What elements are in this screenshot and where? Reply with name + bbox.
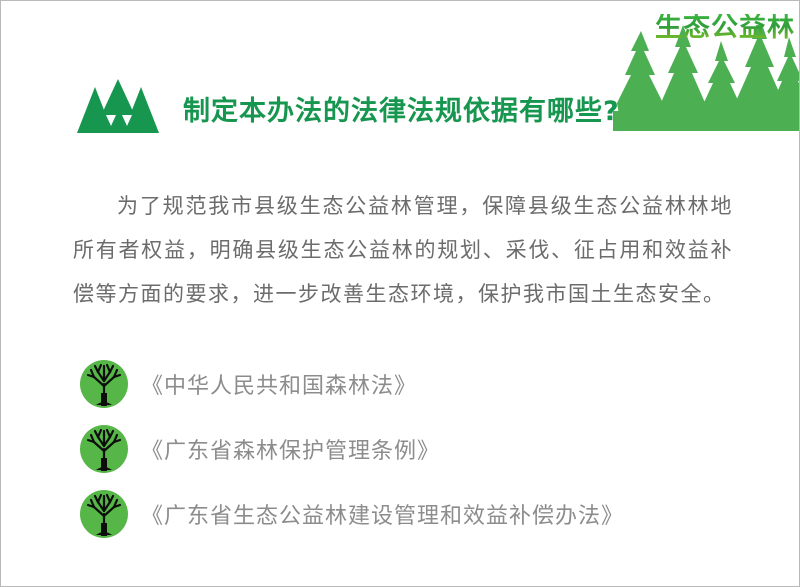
tree-circle-icon [79, 359, 129, 409]
tree-circle-icon [79, 424, 129, 474]
slide-canvas: 生态公益林 制定本办法的法律法规依据有哪些? 为了规范我市县级生态公益林管理，保… [0, 0, 800, 587]
list-item-label: 《广东省森林保护管理条例》 [141, 433, 440, 465]
list-item: 《广东省生态公益林建设管理和效益补偿办法》 [79, 481, 739, 546]
page-heading: 制定本办法的法律法规依据有哪些? [75, 79, 620, 137]
list-item-label: 《广东省生态公益林建设管理和效益补偿办法》 [141, 498, 624, 530]
body-paragraph: 为了规范我市县级生态公益林管理，保障县级生态公益林林地所有者权益，明确县级生态公… [73, 184, 733, 316]
three-pine-trees-icon [75, 79, 161, 137]
brand-logo: 生态公益林 [599, 1, 799, 131]
brand-title: 生态公益林 [655, 14, 795, 41]
list-item: 《中华人民共和国森林法》 [79, 351, 739, 416]
page-heading-text: 制定本办法的法律法规依据有哪些? [183, 89, 620, 128]
tree-circle-icon [79, 489, 129, 539]
list-item-label: 《中华人民共和国森林法》 [141, 368, 417, 400]
list-item: 《广东省森林保护管理条例》 [79, 416, 739, 481]
law-reference-list: 《中华人民共和国森林法》 《广东省森林保护管理条例》 [79, 351, 739, 546]
